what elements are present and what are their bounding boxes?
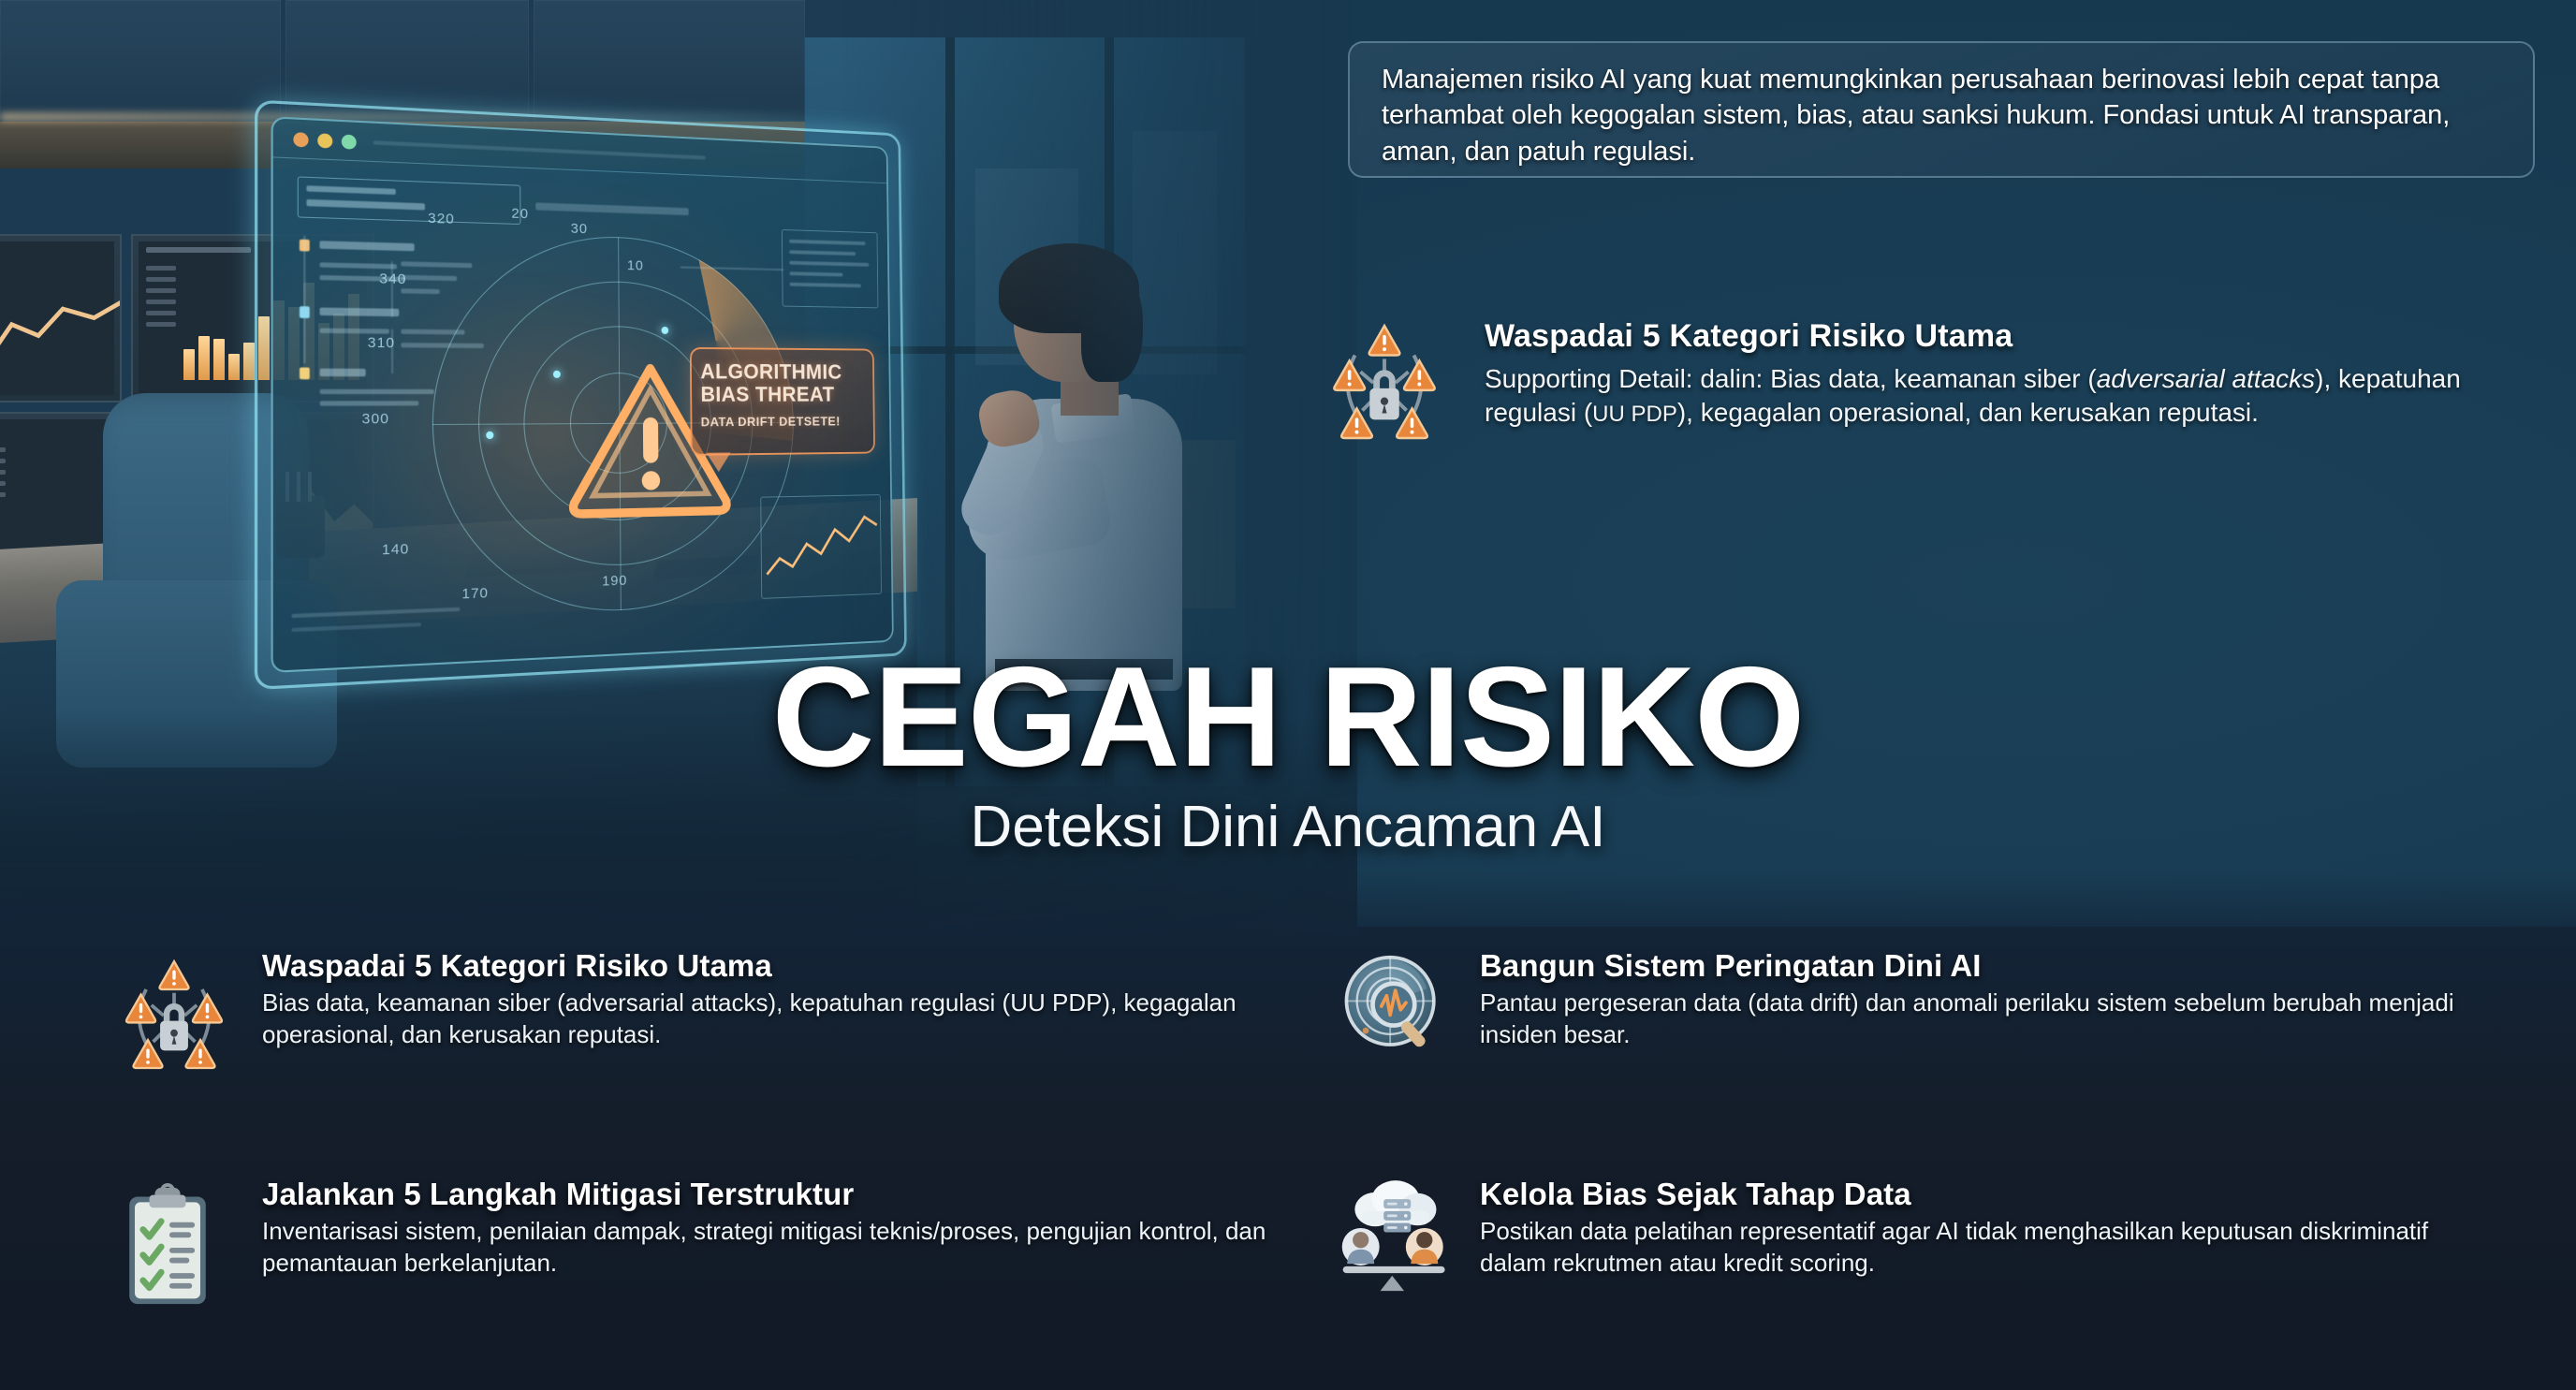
risk-categories-feature-upper: Waspadai 5 Kategori Risiko Utama Support… bbox=[1329, 318, 2546, 447]
cloud-balance-fairness-icon bbox=[1339, 1177, 1452, 1293]
holo-header-tag bbox=[298, 176, 521, 225]
padlock-icon bbox=[160, 1003, 188, 1050]
window-dot-green-icon bbox=[342, 135, 357, 150]
radar-tick: 320 bbox=[428, 211, 455, 227]
padlock-icon bbox=[1369, 370, 1398, 419]
wall-monitor-line-chart bbox=[0, 234, 122, 402]
feature-card-mitigation-steps: Jalankan 5 Langkah Mitigasi Terstruktur … bbox=[122, 1177, 1283, 1390]
infographic-canvas: 340 310 300 320 20 30 10 140 170 190 bbox=[0, 0, 2576, 1390]
radar-magnifier-anomaly-icon bbox=[1339, 948, 1452, 1059]
card-description: Pantau pergeseran data (data drift) dan … bbox=[1480, 988, 2501, 1051]
intro-banner: Manajemen risiko AI yang kuat memungkink… bbox=[1348, 41, 2535, 178]
radar-tick: 30 bbox=[571, 221, 588, 238]
radar-tick: 10 bbox=[627, 257, 644, 273]
card-description: Postikan data pelatihan representatif ag… bbox=[1480, 1216, 2501, 1280]
desc-smallcaps: UU PDP bbox=[1592, 402, 1677, 427]
feature-grid: Waspadai 5 Kategori Risiko Utama Bias da… bbox=[0, 941, 2576, 1390]
avatar-right bbox=[1406, 1228, 1443, 1266]
card-title: Kelola Bias Sejak Tahap Data bbox=[1480, 1177, 2501, 1212]
window-dot-yellow-icon bbox=[317, 133, 332, 148]
holo-screen: 340 310 300 320 20 30 10 140 170 190 bbox=[271, 116, 893, 673]
warning-triangles-lock-icon bbox=[1329, 318, 1451, 447]
feature-card-bias-management: Kelola Bias Sejak Tahap Data Postikan da… bbox=[1339, 1177, 2501, 1390]
warning-triangles-lock-icon bbox=[122, 948, 234, 1077]
clipboard-checklist-icon bbox=[122, 1177, 234, 1310]
holographic-dashboard: 340 310 300 320 20 30 10 140 170 190 bbox=[271, 116, 893, 673]
radar-tick: 170 bbox=[461, 585, 489, 603]
desc-part1: Supporting Detail: dalin: Bias data, kea… bbox=[1485, 364, 2097, 393]
feature-description: Supporting Detail: dalin: Bias data, kea… bbox=[1485, 362, 2546, 430]
banner-text: Manajemen risiko AI yang kuat memungkink… bbox=[1382, 62, 2501, 169]
desc-italic: adversarial attacks bbox=[2097, 364, 2315, 393]
feature-card-early-warning: Bangun Sistem Peringatan Dini AI Pantau … bbox=[1339, 948, 2501, 1162]
holo-side-panel bbox=[782, 229, 878, 308]
man-hair-back bbox=[1081, 270, 1143, 382]
card-description: Inventarisasi sistem, penilaian dampak, … bbox=[262, 1216, 1283, 1280]
holo-trend-panel bbox=[760, 494, 882, 599]
radar-tick: 20 bbox=[511, 206, 529, 223]
businessman-figure bbox=[941, 251, 1222, 691]
page-subtitle: Deteksi Dini Ancaman AI bbox=[0, 794, 2576, 860]
alert-title: ALGORITHMIC BIAS THREAT bbox=[700, 360, 865, 406]
desc-part3: ), kegagalan operasional, dan kerusakan … bbox=[1677, 398, 2259, 427]
radar-tick: 140 bbox=[382, 541, 409, 559]
wall-panel bbox=[534, 0, 805, 122]
avatar-left bbox=[1342, 1228, 1380, 1266]
alert-subtitle: DATA DRIFT DETSETE! bbox=[701, 414, 866, 429]
algorithmic-bias-alert-bubble: ALGORITHMIC BIAS THREAT DATA DRIFT DETSE… bbox=[690, 347, 875, 456]
card-title: Jalankan 5 Langkah Mitigasi Terstruktur bbox=[262, 1177, 1283, 1212]
radar-tick: 190 bbox=[602, 573, 627, 590]
server-rack-icon bbox=[1383, 1199, 1411, 1232]
hero-heading-group: CEGAH RISIKO Deteksi Dini Ancaman AI bbox=[0, 646, 2576, 860]
page-title: CEGAH RISIKO bbox=[0, 646, 2576, 788]
radar-tick: 300 bbox=[362, 411, 390, 428]
radar-tick: 310 bbox=[368, 334, 396, 351]
wall-panel bbox=[0, 0, 281, 122]
feature-title: Waspadai 5 Kategori Risiko Utama bbox=[1485, 318, 2546, 355]
card-title: Bangun Sistem Peringatan Dini AI bbox=[1480, 948, 2501, 984]
feature-card-risk-categories: Waspadai 5 Kategori Risiko Utama Bias da… bbox=[122, 948, 1283, 1162]
window-dot-orange-icon bbox=[293, 132, 308, 147]
card-title: Waspadai 5 Kategori Risiko Utama bbox=[262, 948, 1283, 984]
radar-tick: 340 bbox=[379, 271, 406, 287]
card-description: Bias data, keamanan siber (adversarial a… bbox=[262, 988, 1283, 1051]
